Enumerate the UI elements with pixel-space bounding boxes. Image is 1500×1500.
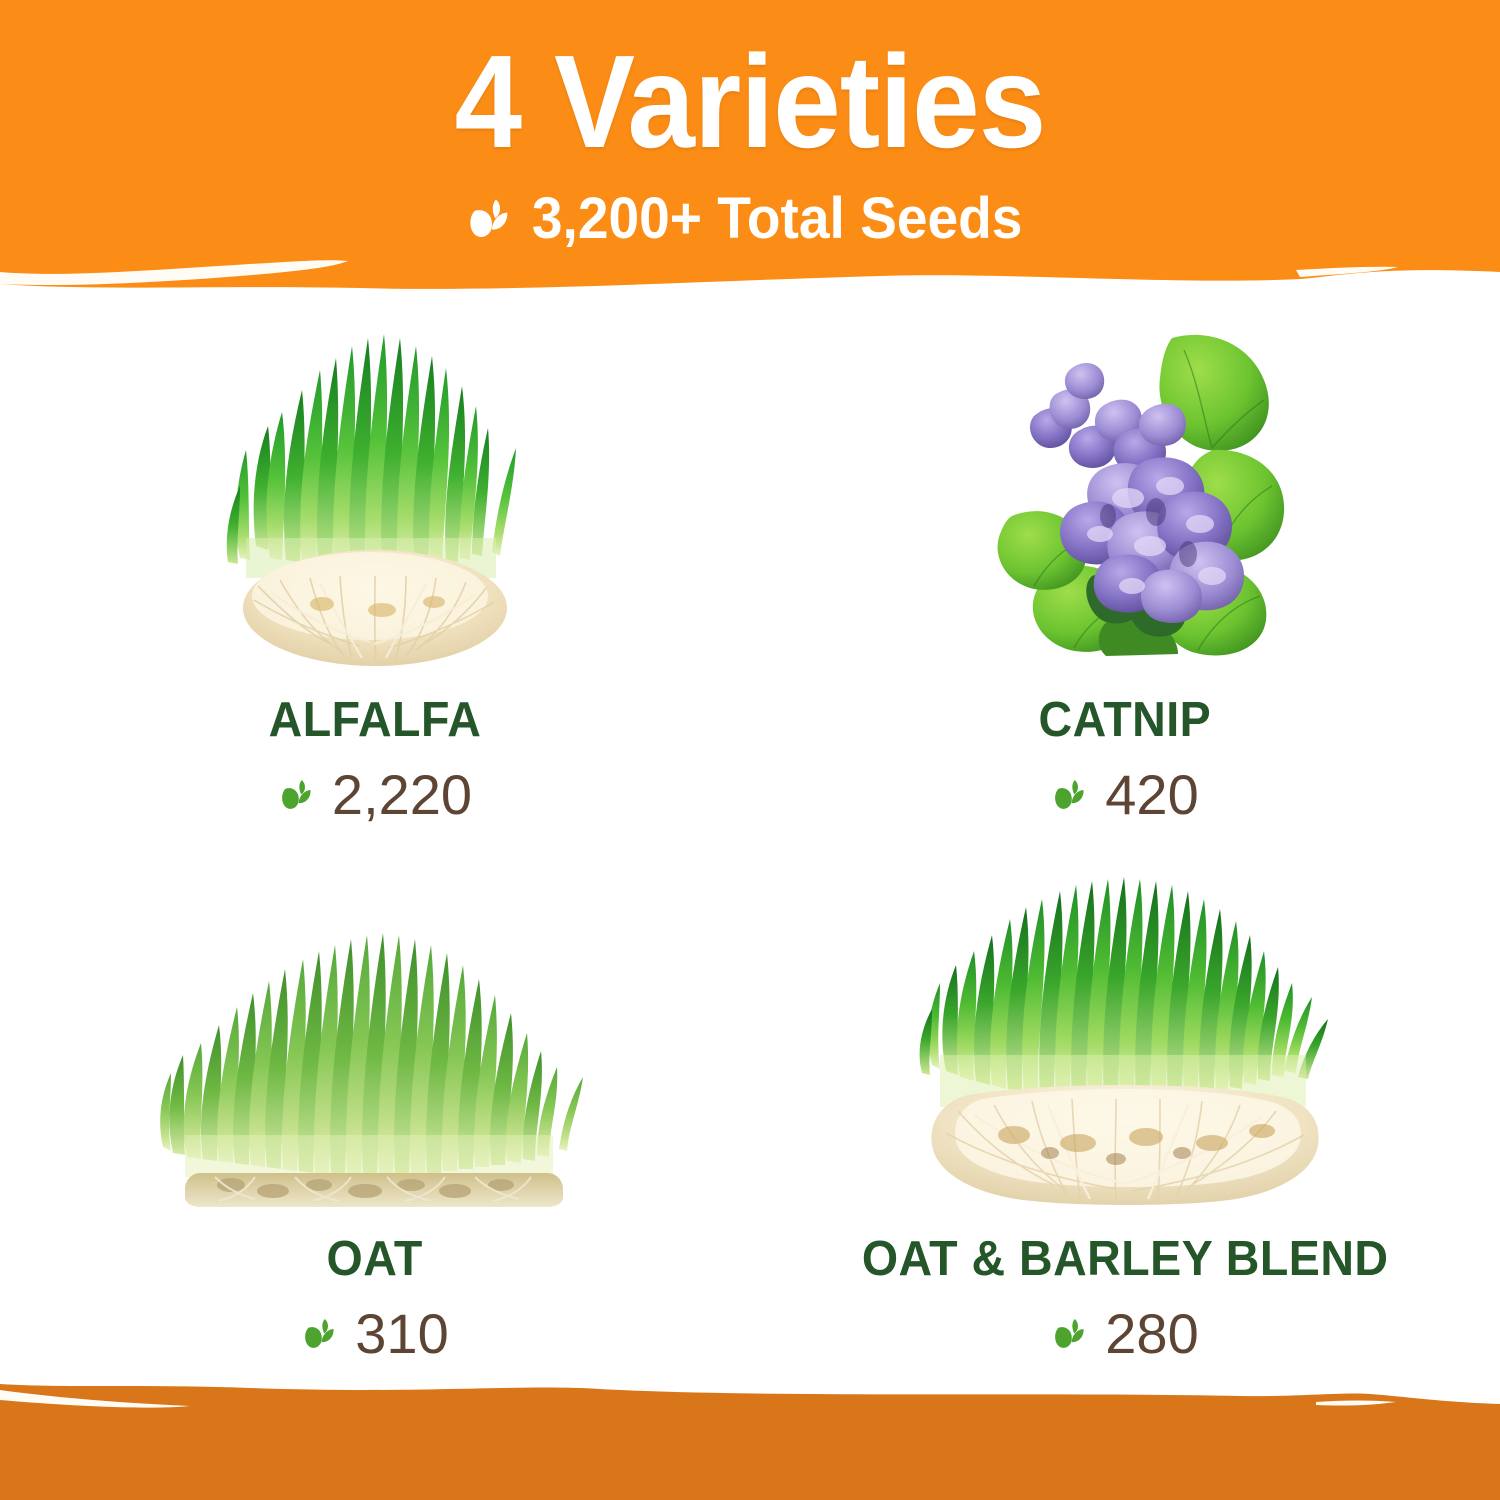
- variety-count-row: 2,220: [278, 767, 472, 823]
- sprout-icon: [1051, 775, 1091, 815]
- variety-name: OAT: [327, 1235, 423, 1284]
- variety-count-row: 420: [1051, 767, 1198, 823]
- page-title: 4 Varieties: [60, 36, 1440, 168]
- variety-count-row: 280: [1051, 1306, 1198, 1362]
- variety-grid: ALFALFA 2,220: [0, 292, 1500, 1370]
- variety-card-alfalfa: ALFALFA 2,220: [0, 292, 750, 831]
- sprout-icon: [278, 775, 318, 815]
- variety-name: OAT & BARLEY BLEND: [862, 1235, 1389, 1284]
- sprout-icon: [1051, 1314, 1091, 1354]
- variety-name: CATNIP: [1039, 696, 1212, 745]
- variety-count-row: 310: [301, 1306, 448, 1362]
- variety-count: 310: [355, 1306, 448, 1362]
- variety-count: 280: [1105, 1306, 1198, 1362]
- sprout-icon: [301, 1314, 341, 1354]
- footer-brush-shape: [0, 1370, 1500, 1500]
- variety-count: 420: [1105, 767, 1198, 823]
- variety-card-oat: OAT 310: [0, 831, 750, 1370]
- catnip-flowers-image: [750, 292, 1500, 680]
- variety-card-catnip: CATNIP 420: [750, 292, 1500, 831]
- subtitle-text: 3,200+ Total Seeds: [532, 190, 1023, 248]
- variety-name: ALFALFA: [269, 696, 482, 745]
- variety-card-oat-barley-blend: OAT & BARLEY BLEND 280: [750, 831, 1500, 1370]
- variety-count: 2,220: [332, 767, 472, 823]
- header-banner: 4 Varieties 3,200+ Total Seeds: [0, 0, 1500, 290]
- subtitle-row: 3,200+ Total Seeds: [0, 190, 1500, 248]
- alfalfa-sprouts-image: [0, 292, 750, 680]
- sprout-icon: [465, 193, 517, 245]
- footer-banner: [0, 1370, 1500, 1500]
- oat-barley-blend-image: [750, 831, 1500, 1219]
- oat-grass-image: [0, 831, 750, 1219]
